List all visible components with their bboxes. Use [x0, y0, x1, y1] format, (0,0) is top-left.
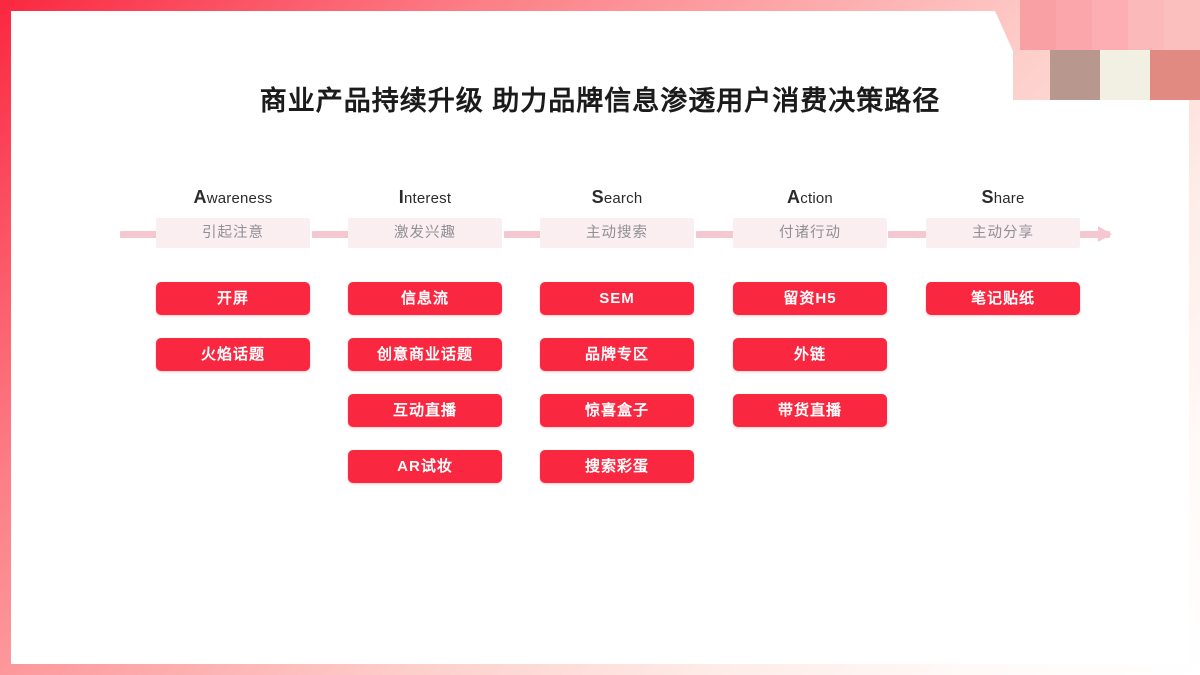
- stage-label-cn: 付诸行动: [733, 218, 887, 248]
- product-button[interactable]: AR试妆: [348, 450, 502, 483]
- product-button[interactable]: 笔记贴纸: [926, 282, 1080, 315]
- product-button[interactable]: 创意商业话题: [348, 338, 502, 371]
- stage-label-cn: 主动分享: [926, 218, 1080, 248]
- stage-hare: Share主动分享: [926, 188, 1080, 248]
- swatch-top-2: [1092, 0, 1128, 50]
- stage-initial: S: [981, 187, 993, 207]
- stage-label-en: Search: [540, 188, 694, 208]
- stage-initial: A: [194, 187, 207, 207]
- stage-word-rest: nterest: [404, 190, 451, 207]
- product-button[interactable]: 惊喜盒子: [540, 394, 694, 427]
- product-column-earch: SEM品牌专区惊喜盒子搜索彩蛋: [540, 282, 694, 506]
- stage-nterest: Interest激发兴趣: [348, 188, 502, 248]
- product-button[interactable]: SEM: [540, 282, 694, 315]
- product-button[interactable]: 信息流: [348, 282, 502, 315]
- swatch-top-4: [1164, 0, 1200, 50]
- stage-label-cn: 激发兴趣: [348, 218, 502, 248]
- product-column-nterest: 信息流创意商业话题互动直播AR试妆: [348, 282, 502, 506]
- stage-word-rest: earch: [604, 190, 643, 207]
- color-swatch-row-top: [1020, 0, 1200, 50]
- stage-word-rest: hare: [994, 190, 1025, 207]
- stage-label-cn: 引起注意: [156, 218, 310, 248]
- stage-earch: Search主动搜索: [540, 188, 694, 248]
- stage-initial: S: [592, 187, 604, 207]
- stage-label-cn: 主动搜索: [540, 218, 694, 248]
- product-button[interactable]: 互动直播: [348, 394, 502, 427]
- slide-canvas: 商业产品持续升级 助力品牌信息渗透用户消费决策路径 Awareness引起注意I…: [0, 0, 1200, 675]
- product-column-hare: 笔记贴纸: [926, 282, 1080, 338]
- product-button[interactable]: 搜索彩蛋: [540, 450, 694, 483]
- product-column-wareness: 开屏火焰话题: [156, 282, 310, 394]
- page-title: 商业产品持续升级 助力品牌信息渗透用户消费决策路径: [0, 79, 1200, 118]
- stage-word-rest: wareness: [207, 190, 273, 207]
- product-button[interactable]: 带货直播: [733, 394, 887, 427]
- product-column-ction: 留资H5外链带货直播: [733, 282, 887, 450]
- stage-label-en: Awareness: [156, 188, 310, 208]
- product-columns: 开屏火焰话题信息流创意商业话题互动直播AR试妆SEM品牌专区惊喜盒子搜索彩蛋留资…: [0, 282, 1200, 512]
- stage-label-en: Share: [926, 188, 1080, 208]
- stage-label-en: Interest: [348, 188, 502, 208]
- aisas-stage-track: Awareness引起注意Interest激发兴趣Search主动搜索Actio…: [0, 188, 1200, 258]
- swatch-top-0: [1020, 0, 1056, 50]
- product-button[interactable]: 留资H5: [733, 282, 887, 315]
- product-button[interactable]: 品牌专区: [540, 338, 694, 371]
- swatch-top-1: [1056, 0, 1092, 50]
- stage-wareness: Awareness引起注意: [156, 188, 310, 248]
- product-button[interactable]: 火焰话题: [156, 338, 310, 371]
- stage-initial: A: [787, 187, 800, 207]
- stage-ction: Action付诸行动: [733, 188, 887, 248]
- product-button[interactable]: 外链: [733, 338, 887, 371]
- product-button[interactable]: 开屏: [156, 282, 310, 315]
- stage-label-en: Action: [733, 188, 887, 208]
- stage-word-rest: ction: [800, 190, 833, 207]
- swatch-top-3: [1128, 0, 1164, 50]
